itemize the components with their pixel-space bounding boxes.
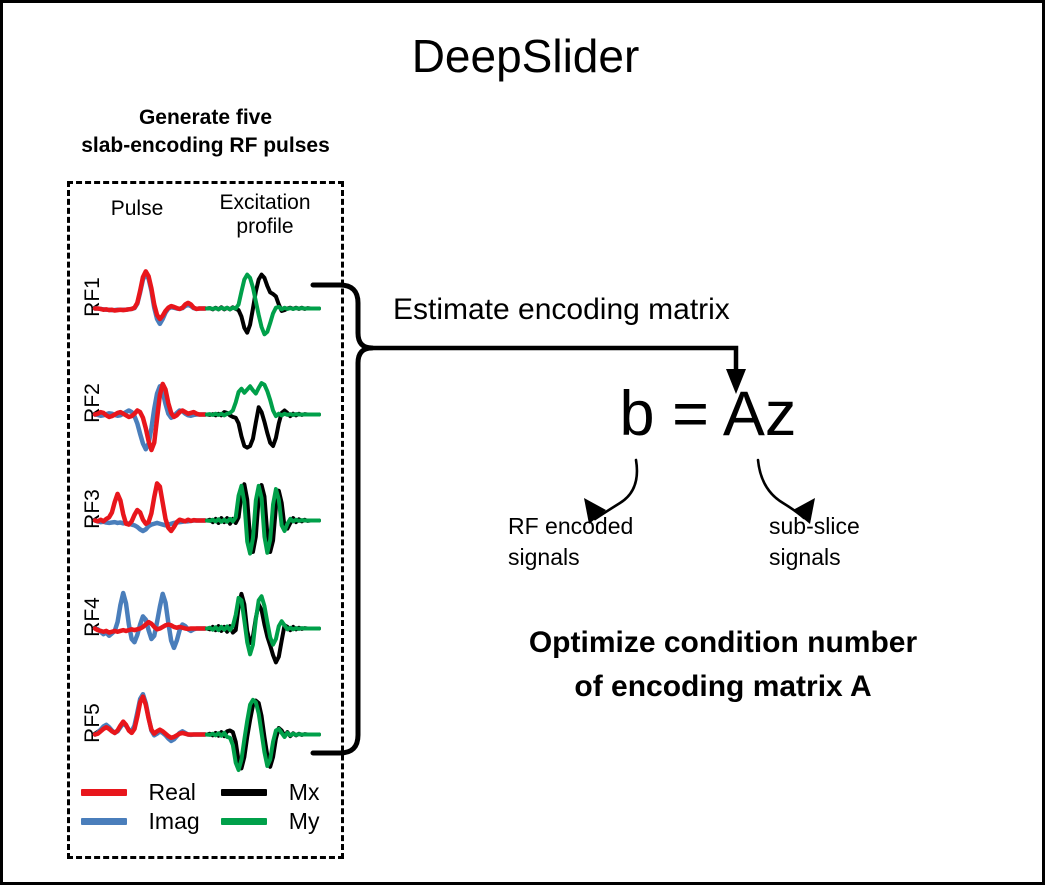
optimize-line2: of encoding matrix A [423, 665, 1023, 709]
annotation-b-line1: RF encoded [508, 511, 688, 542]
pulse-plot-rf3 [95, 461, 205, 557]
waveform-legend: RealMxImagMy [81, 781, 331, 833]
annotation-z-line1: sub-slice [769, 511, 929, 542]
pulse-plot-rf5 [95, 675, 205, 771]
estimate-arrow [369, 348, 736, 375]
pulse-plot-rf4 [95, 569, 205, 665]
trace-my [207, 275, 319, 335]
page-title: DeepSlider [3, 31, 1045, 82]
legend-label-my: My [289, 810, 331, 833]
profile-plot-rf3 [207, 461, 319, 557]
optimize-line1: Optimize condition number [423, 621, 1023, 665]
profile-plot-rf4 [207, 569, 319, 665]
trace-real [95, 697, 205, 738]
trace-my [207, 700, 319, 770]
annotation-sub-slice-signals: sub-slice signals [769, 511, 929, 573]
profile-plot-rf1 [207, 249, 319, 345]
legend-swatch-my [221, 818, 267, 825]
waveform-row-rf2: RF2 [67, 355, 344, 451]
encoding-equation: b = Az [603, 381, 813, 447]
profile-plot-rf5 [207, 675, 319, 771]
annotation-z-line2: signals [769, 542, 929, 573]
waveform-row-rf3: RF3 [67, 461, 344, 557]
estimate-encoding-matrix-label: Estimate encoding matrix [393, 293, 730, 327]
generate-heading-line2: slab-encoding RF pulses [33, 132, 378, 160]
z-annotation-arrow [758, 460, 804, 518]
annotation-b-line2: signals [508, 542, 688, 573]
legend-swatch-mx [221, 789, 267, 796]
optimize-condition-number-text: Optimize condition number of encoding ma… [423, 621, 1023, 708]
generate-pulses-heading: Generate five slab-encoding RF pulses [33, 104, 378, 160]
annotation-rf-encoded-signals: RF encoded signals [508, 511, 688, 573]
generate-heading-line1: Generate five [33, 104, 378, 132]
legend-swatch-imag [81, 818, 127, 825]
deepslider-figure: DeepSlider Generate five slab-encoding R… [0, 0, 1045, 885]
column-header-pulse: Pulse [81, 197, 193, 221]
pulse-plot-rf1 [95, 249, 205, 345]
pulse-plot-rf2 [95, 355, 205, 451]
column-header-excitation-profile: Excitation profile [195, 191, 335, 238]
column-header-excitation-line1: Excitation [195, 191, 335, 215]
profile-plot-rf2 [207, 355, 319, 451]
waveform-row-rf5: RF5 [67, 675, 344, 771]
legend-label-mx: Mx [289, 781, 331, 804]
legend-label-imag: Imag [149, 810, 212, 833]
column-header-excitation-line2: profile [195, 215, 335, 239]
legend-swatch-real [81, 789, 127, 796]
trace-my [207, 486, 319, 554]
waveform-row-rf1: RF1 [67, 249, 344, 345]
trace-mx [207, 275, 319, 333]
waveform-row-rf4: RF4 [67, 569, 344, 665]
legend-label-real: Real [149, 781, 212, 804]
